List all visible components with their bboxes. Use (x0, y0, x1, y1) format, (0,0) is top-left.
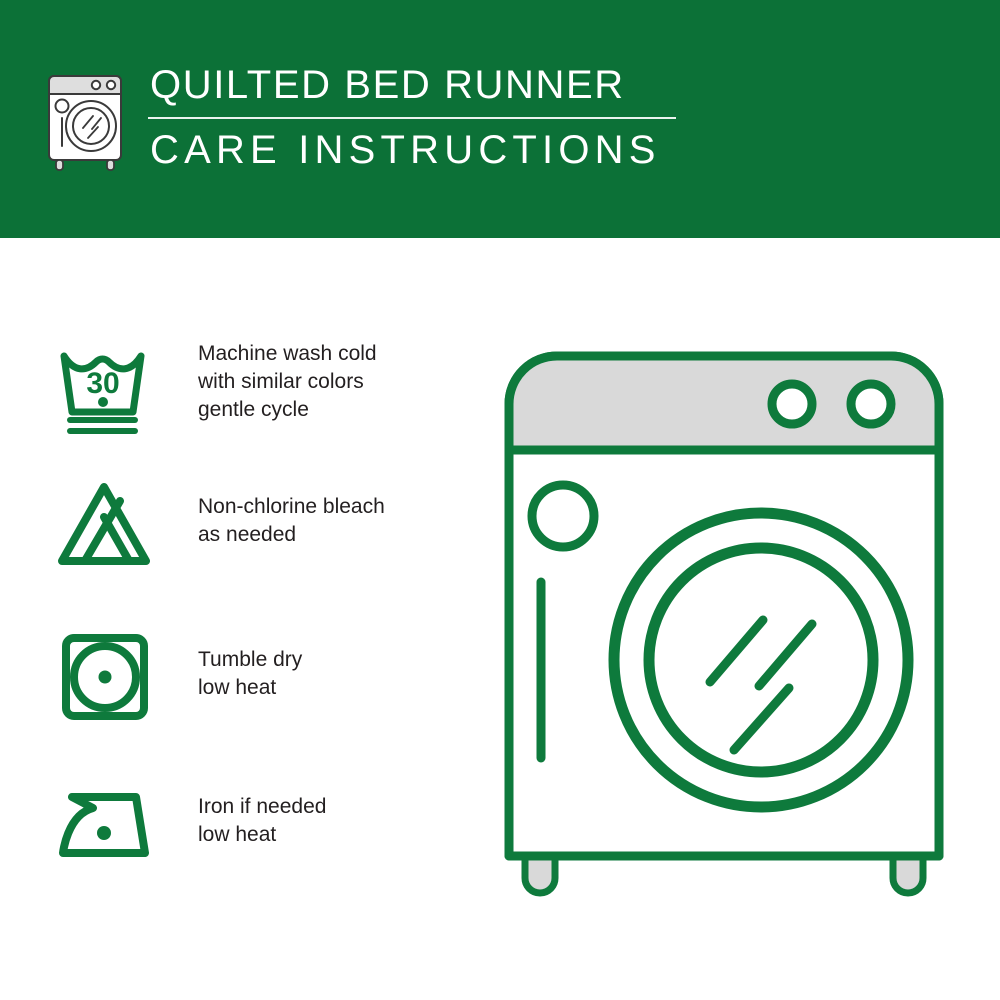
content-area: 30 Machine wash cold with similar colors… (0, 238, 1000, 1000)
care-instruction-text: Iron if needed low heat (198, 775, 326, 849)
control-knob-2 (851, 384, 891, 424)
washing-machine-icon (42, 66, 134, 172)
care-instruction-text: Tumble dry low heat (198, 628, 302, 702)
header-divider (148, 117, 676, 119)
care-instruction-text: Machine wash cold with similar colors ge… (198, 338, 377, 424)
header-text-group: QUILTED BED RUNNER CARE INSTRUCTIONS (148, 62, 676, 173)
washing-machine-illustration (495, 338, 970, 938)
care-instruction-row: Non-chlorine bleach as needed (50, 475, 470, 575)
iron-icon (50, 775, 160, 875)
indicator-light (532, 485, 594, 547)
control-knob-1 (772, 384, 812, 424)
drum-door-inner (649, 548, 873, 772)
wash-temperature-label: 30 (86, 367, 119, 400)
tumble-dry-icon (50, 628, 160, 728)
care-instruction-text: Non-chlorine bleach as needed (198, 475, 385, 549)
care-instruction-row: Iron if needed low heat (50, 775, 470, 875)
page-subtitle: CARE INSTRUCTIONS (148, 127, 676, 173)
page-title: QUILTED BED RUNNER (148, 62, 676, 108)
header-content: QUILTED BED RUNNER CARE INSTRUCTIONS (42, 62, 676, 173)
bleach-triangle-icon (50, 475, 160, 575)
care-instruction-row: 30 Machine wash cold with similar colors… (50, 338, 470, 438)
header-banner: QUILTED BED RUNNER CARE INSTRUCTIONS (0, 0, 1000, 238)
care-instruction-row: Tumble dry low heat (50, 628, 470, 728)
wash-tub-icon: 30 (50, 338, 160, 438)
